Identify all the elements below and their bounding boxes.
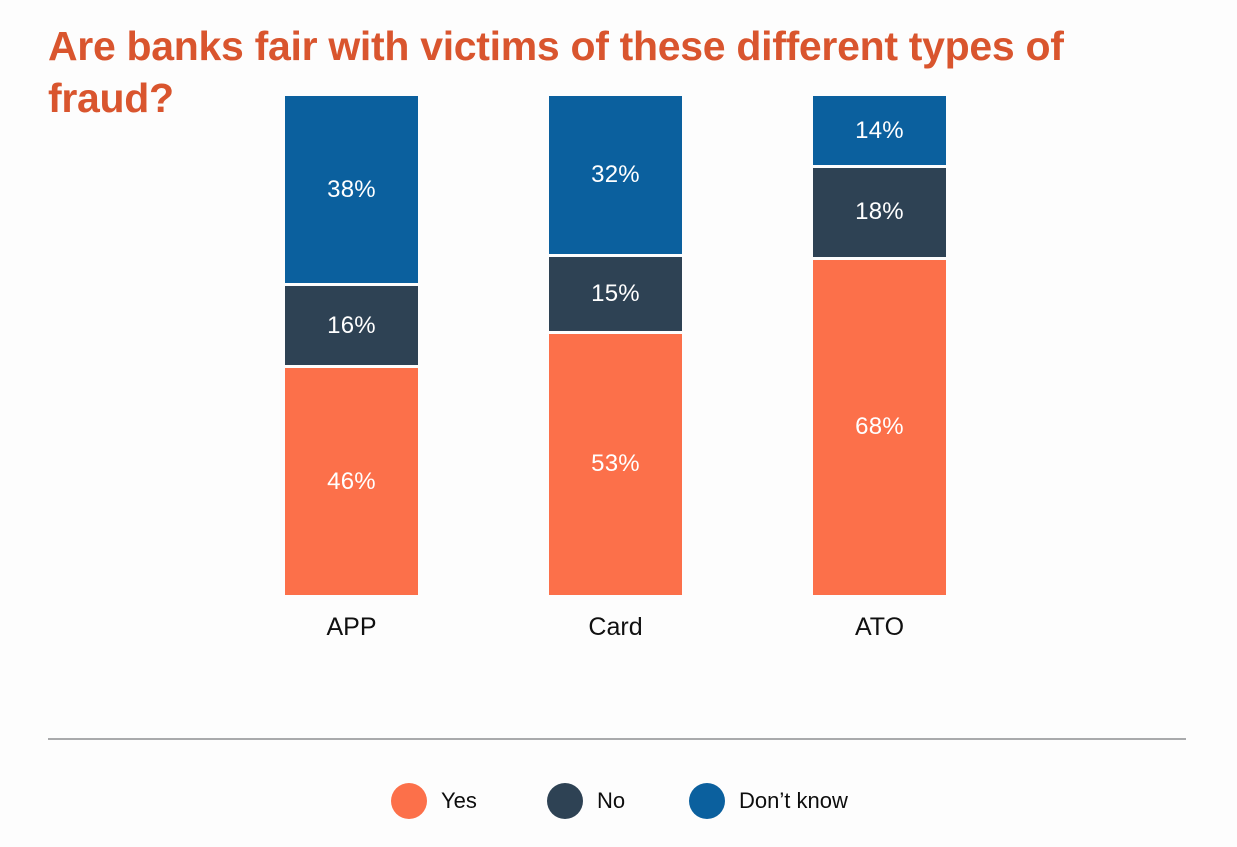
- bar-column-ato: 14% 18% 68%: [813, 96, 946, 595]
- legend-item-no[interactable]: No: [547, 778, 625, 824]
- bar-segment-value: 53%: [591, 450, 640, 478]
- bar-segment-value: 38%: [327, 176, 376, 204]
- legend-item-dont-know[interactable]: Don’t know: [689, 778, 848, 824]
- chart-plot-area: 38% 16% 46% 32% 15% 53% 14% 18% 68% AP: [0, 140, 1237, 720]
- legend-item-label: Yes: [441, 788, 477, 814]
- legend-swatch-circle-icon: [689, 783, 725, 819]
- bar-column-card: 32% 15% 53%: [549, 96, 682, 595]
- axis-label-card: Card: [549, 613, 682, 642]
- bar-segment-value: 46%: [327, 468, 376, 496]
- legend-swatch-circle-icon: [391, 783, 427, 819]
- bar-segment-value: 14%: [855, 117, 904, 145]
- legend-item-label: No: [597, 788, 625, 814]
- legend-item-yes[interactable]: Yes: [391, 778, 477, 824]
- chart-legend: Yes No Don’t know: [0, 778, 1237, 826]
- bar-column-app: 38% 16% 46%: [285, 96, 418, 595]
- bar-segment-ato-dontknow[interactable]: 14%: [813, 96, 946, 165]
- bar-segment-card-dontknow[interactable]: 32%: [549, 96, 682, 254]
- bar-segment-card-no[interactable]: 15%: [549, 257, 682, 331]
- bar-segment-value: 18%: [855, 198, 904, 226]
- axis-label-app: APP: [285, 613, 418, 642]
- bar-segment-card-yes[interactable]: 53%: [549, 334, 682, 595]
- bar-segment-app-no[interactable]: 16%: [285, 286, 418, 365]
- bar-segment-ato-yes[interactable]: 68%: [813, 260, 946, 595]
- bar-segment-app-dontknow[interactable]: 38%: [285, 96, 418, 283]
- legend-item-label: Don’t know: [739, 788, 848, 814]
- bar-segment-value: 68%: [855, 413, 904, 441]
- bar-segment-value: 32%: [591, 161, 640, 189]
- axis-label-ato: ATO: [813, 613, 946, 642]
- bar-segment-value: 16%: [327, 312, 376, 340]
- legend-swatch-circle-icon: [547, 783, 583, 819]
- bar-segment-value: 15%: [591, 280, 640, 308]
- bar-segment-app-yes[interactable]: 46%: [285, 368, 418, 595]
- horizontal-divider: [48, 738, 1186, 740]
- bar-segment-ato-no[interactable]: 18%: [813, 168, 946, 257]
